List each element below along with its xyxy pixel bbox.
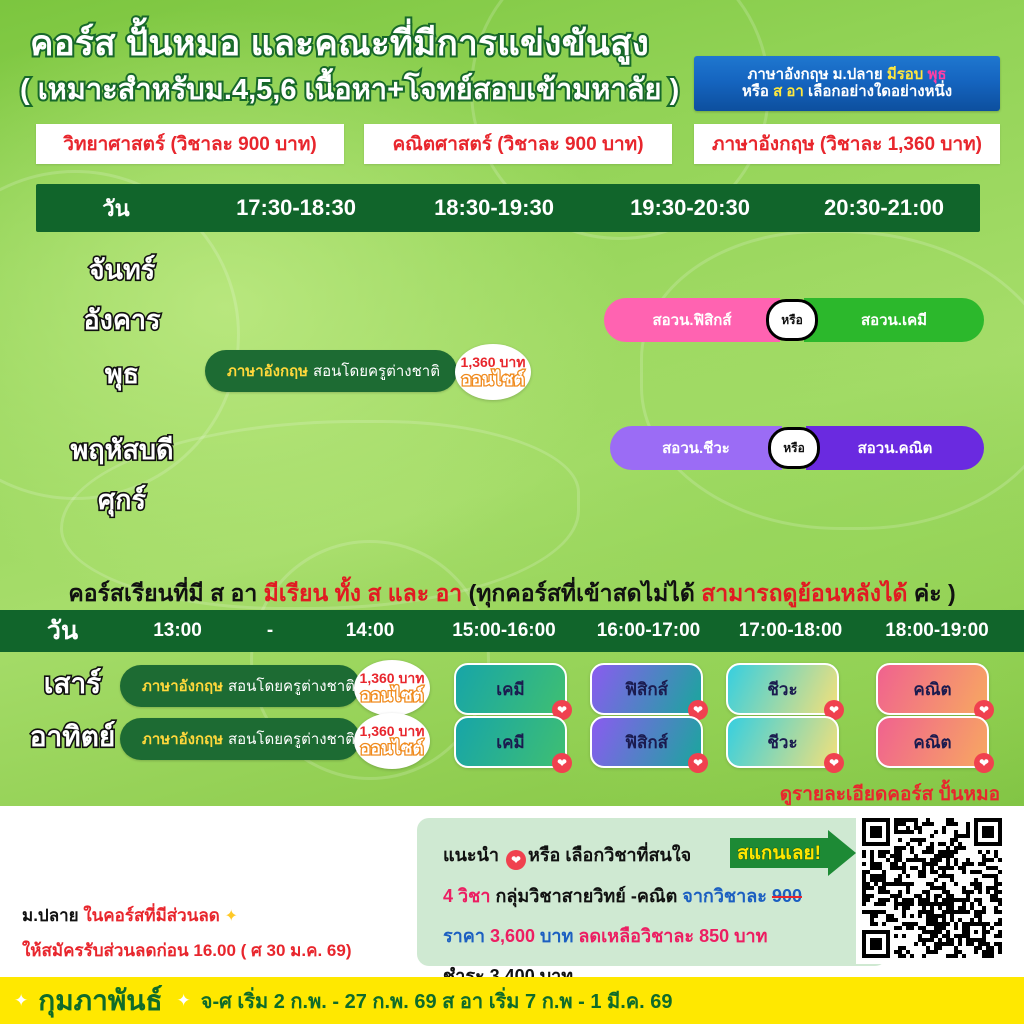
saturday-subject-math[interactable]: คณิต ❤ bbox=[876, 663, 989, 715]
weekend-table-header: วัน 13:00 - 14:00 15:00-16:00 16:00-17:0… bbox=[0, 610, 1024, 652]
sunday-subject-physics[interactable]: ฟิสิกส์ ❤ bbox=[590, 716, 703, 768]
star-icon: ✦ bbox=[14, 991, 28, 1011]
tuesday-course-right[interactable]: สอวน.เคมี bbox=[804, 298, 984, 342]
star-icon: ✦ bbox=[225, 908, 238, 925]
promo-line-2: 4 วิชา กลุ่มวิชาสายวิทย์ -คณิต จากวิชาละ… bbox=[443, 881, 887, 910]
weekday-row-label-wednesday: พุธ bbox=[22, 352, 222, 395]
subject-label: ชีวะ bbox=[767, 729, 797, 756]
onsite-label: ออนไซต์ bbox=[461, 371, 524, 390]
price-value: 1,360 บาท bbox=[461, 355, 526, 369]
heart-icon: ❤ bbox=[688, 753, 708, 773]
weekend-header-14: 14:00 bbox=[310, 620, 430, 642]
tuesday-course-left[interactable]: สอวน.ฟิสิกส์ bbox=[604, 298, 780, 342]
heart-icon: ❤ bbox=[974, 753, 994, 773]
english-teacher-label: สอนโดยครูต่างชาติ bbox=[228, 727, 355, 751]
price-box-math: คณิตศาสตร์ (วิชาละ 900 บาท) bbox=[364, 124, 672, 164]
discount-note: ม.ปลาย ในคอร์สที่มีส่วนลด ✦ ให้สมัครรับส… bbox=[22, 902, 351, 964]
english-banner-line-1: ภาษาอังกฤษ ม.ปลาย มีรอบ พุธ bbox=[747, 67, 946, 84]
weekend-header-slot-3: 17:00-18:00 bbox=[719, 620, 862, 642]
saturday-subject-chemistry[interactable]: เคมี ❤ bbox=[454, 663, 567, 715]
or-separator: หรือ bbox=[768, 427, 820, 469]
bottom-panel: ม.ปลาย ในคอร์สที่มีส่วนลด ✦ ให้สมัครรับส… bbox=[0, 806, 1024, 977]
weekend-header-day: วัน bbox=[0, 611, 125, 651]
english-banner-line-2: หรือ ส อา เลือกอย่างใดอย่างหนึ่ง bbox=[742, 84, 952, 101]
saturday-price-tag: 1,360 บาท ออนไซต์ bbox=[354, 660, 430, 716]
subject-label: เคมี bbox=[496, 729, 524, 756]
sunday-subject-chemistry[interactable]: เคมี ❤ bbox=[454, 716, 567, 768]
arrow-body: สแกนเลย! bbox=[730, 838, 828, 868]
thursday-course-pair[interactable]: สอวน.ชีวะ หรือ สอวน.คณิต bbox=[610, 426, 984, 470]
price-value: 1,360 บาท bbox=[360, 724, 425, 738]
sunday-subject-biology[interactable]: ชีวะ ❤ bbox=[726, 716, 839, 768]
weekday-header-slot-4: 20:30-21:00 bbox=[788, 195, 980, 221]
star-icon: ✦ bbox=[177, 991, 191, 1011]
subject-label: ฟิสิกส์ bbox=[625, 676, 668, 703]
weekend-header-slot-1: 15:00-16:00 bbox=[430, 620, 578, 642]
weekday-row-label-thursday: พฤหัสบดี bbox=[22, 428, 222, 471]
weekday-row-label-tuesday: อังคาร bbox=[22, 298, 222, 341]
subject-label: เคมี bbox=[496, 676, 524, 703]
page-title: คอร์ส ปั้นหมอ และคณะที่มีการแข่งขันสูง bbox=[30, 16, 710, 71]
sunday-english-course[interactable]: ภาษาอังกฤษ สอนโดยครูต่างชาติ bbox=[120, 718, 360, 760]
scan-arrow: สแกนเลย! bbox=[730, 830, 864, 876]
scan-label: สแกนเลย! bbox=[737, 838, 821, 868]
saturday-english-course[interactable]: ภาษาอังกฤษ สอนโดยครูต่างชาติ bbox=[120, 665, 360, 707]
tuesday-course-pair[interactable]: สอวน.ฟิสิกส์ หรือ สอวน.เคมี bbox=[604, 298, 984, 342]
price-box-science: วิทยาศาสตร์ (วิชาละ 900 บาท) bbox=[36, 124, 344, 164]
english-subject-label: ภาษาอังกฤษ bbox=[227, 359, 308, 383]
wednesday-price-tag: 1,360 บาท ออนไซต์ bbox=[455, 344, 531, 400]
english-round-banner: ภาษาอังกฤษ ม.ปลาย มีรอบ พุธ หรือ ส อา เล… bbox=[694, 56, 1000, 111]
arrow-head-icon bbox=[828, 830, 856, 876]
weekend-availability-note: คอร์สเรียนที่มี ส อา มีเรียน ทั้ง ส และ … bbox=[0, 576, 1024, 612]
wednesday-english-course[interactable]: ภาษาอังกฤษ สอนโดยครูต่างชาติ bbox=[205, 350, 457, 392]
discount-note-line-2: ให้สมัครรับส่วนลดก่อน 16.00 ( ศ 30 ม.ค. … bbox=[22, 937, 351, 964]
weekend-header-dash: - bbox=[230, 620, 310, 642]
course-detail-note: ดูรายละเอียดคอร์ส ปั้นหมอ bbox=[780, 779, 1000, 809]
thursday-course-right[interactable]: สอวน.คณิต bbox=[806, 426, 984, 470]
or-separator: หรือ bbox=[766, 299, 818, 341]
weekday-row-label-friday: ศุกร์ bbox=[22, 478, 222, 521]
heart-icon: ❤ bbox=[506, 850, 526, 870]
subject-label: คณิต bbox=[913, 729, 951, 756]
subject-label: ชีวะ bbox=[767, 676, 797, 703]
promo-line-3: ราคา 3,600 บาท ลดเหลือวิชาละ 850 บาท bbox=[443, 921, 887, 950]
subject-label: คณิต bbox=[913, 676, 951, 703]
weekday-table-header: วัน 17:30-18:30 18:30-19:30 19:30-20:30 … bbox=[36, 184, 980, 232]
onsite-label: ออนไซต์ bbox=[360, 740, 423, 759]
heart-icon: ❤ bbox=[552, 753, 572, 773]
english-subject-label: ภาษาอังกฤษ bbox=[142, 727, 223, 751]
page-subtitle: ( เหมาะสำหรับม.4,5,6 เนื้อหา+โจทย์สอบเข้… bbox=[20, 66, 700, 112]
poster-root: คอร์ส ปั้นหมอ และคณะที่มีการแข่งขันสูง (… bbox=[0, 0, 1024, 1024]
english-teacher-label: สอนโดยครูต่างชาติ bbox=[313, 359, 440, 383]
thursday-course-left[interactable]: สอวน.ชีวะ bbox=[610, 426, 782, 470]
weekend-header-13: 13:00 bbox=[125, 620, 230, 642]
saturday-subject-biology[interactable]: ชีวะ ❤ bbox=[726, 663, 839, 715]
footer-month: กุมภาพันธ์ bbox=[38, 979, 162, 1023]
subject-label: ฟิสิกส์ bbox=[625, 729, 668, 756]
sunday-price-tag: 1,360 บาท ออนไซต์ bbox=[354, 713, 430, 769]
english-teacher-label: สอนโดยครูต่างชาติ bbox=[228, 674, 355, 698]
weekday-header-slot-2: 18:30-19:30 bbox=[396, 195, 592, 221]
onsite-label: ออนไซต์ bbox=[360, 687, 423, 706]
saturday-subject-physics[interactable]: ฟิสิกส์ ❤ bbox=[590, 663, 703, 715]
footer-bar: ✦ กุมภาพันธ์ ✦ จ-ศ เริ่ม 2 ก.พ. - 27 ก.พ… bbox=[0, 977, 1024, 1024]
weekday-header-slot-3: 19:30-20:30 bbox=[592, 195, 788, 221]
english-subject-label: ภาษาอังกฤษ bbox=[142, 674, 223, 698]
footer-dates: จ-ศ เริ่ม 2 ก.พ. - 27 ก.พ. 69 ส อา เริ่ม… bbox=[201, 985, 673, 1017]
price-box-english: ภาษาอังกฤษ (วิชาละ 1,360 บาท) bbox=[694, 124, 1000, 164]
weekday-header-day: วัน bbox=[36, 191, 196, 226]
weekday-row-label-monday: จันทร์ bbox=[22, 248, 222, 291]
qr-code[interactable] bbox=[856, 812, 1008, 964]
weekend-header-slot-4: 18:00-19:00 bbox=[862, 620, 1012, 642]
sunday-subject-math[interactable]: คณิต ❤ bbox=[876, 716, 989, 768]
weekend-header-slot-2: 16:00-17:00 bbox=[578, 620, 719, 642]
price-value: 1,360 บาท bbox=[360, 671, 425, 685]
background-blob-decor bbox=[640, 230, 1024, 530]
heart-icon: ❤ bbox=[824, 753, 844, 773]
discount-note-line-1: ม.ปลาย ในคอร์สที่มีส่วนลด ✦ bbox=[22, 902, 351, 929]
weekday-header-slot-1: 17:30-18:30 bbox=[196, 195, 396, 221]
